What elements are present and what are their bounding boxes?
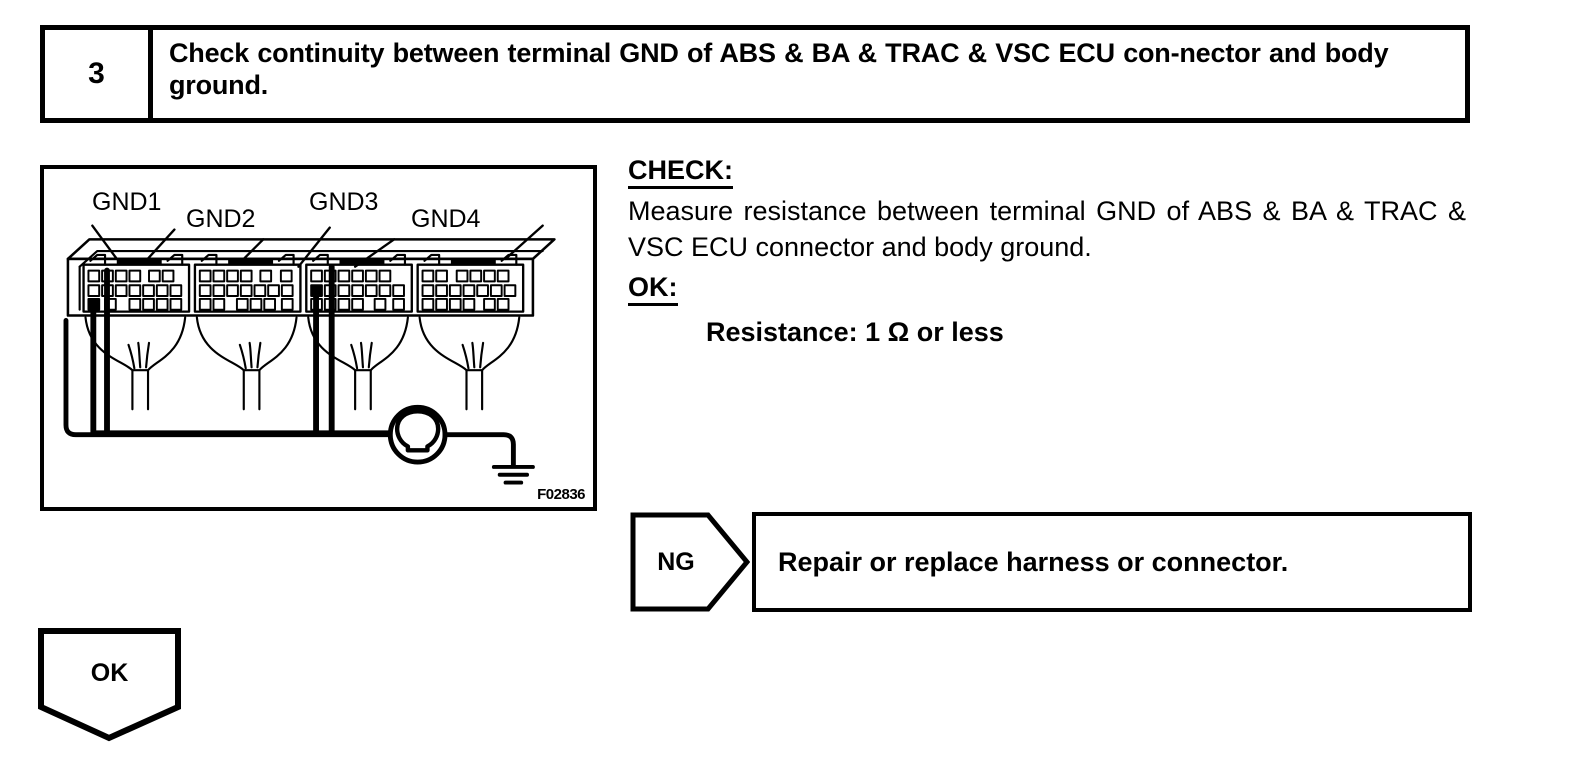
- pin-grid: [88, 271, 515, 310]
- ohmmeter-symbol: [390, 407, 445, 462]
- resistance-spec: Resistance: 1 Ω or less: [706, 316, 1468, 348]
- ng-result-box: Repair or replace harness or connector.: [752, 512, 1472, 612]
- step-number-cell: 3: [45, 30, 153, 118]
- connector-blocks: [84, 255, 524, 312]
- check-instructions-block: CHECK: Measure resistance between termin…: [628, 155, 1468, 349]
- ng-label: NG: [630, 512, 722, 612]
- ground-lead: [445, 435, 513, 466]
- ok-label: OK: [37, 627, 182, 719]
- terminal-label-gnd2: GND2: [186, 207, 255, 232]
- check-body-text: Measure resistance between terminal GND …: [628, 194, 1466, 266]
- terminal-label-gnd1: GND1: [92, 190, 161, 215]
- figure-panel: GND1 GND2 GND3 GND4 F02836: [40, 165, 597, 511]
- check-label: CHECK:: [628, 155, 733, 189]
- wire-harness-bundles: [86, 317, 520, 409]
- terminal-label-gnd4: GND4: [411, 207, 480, 232]
- meter-lead-bus: [66, 320, 390, 434]
- step-header-box: 3 Check continuity between terminal GND …: [40, 25, 1470, 123]
- ok-branch-arrow: OK: [37, 627, 182, 742]
- connector-measurement-diagram: [44, 169, 593, 507]
- step-number: 3: [88, 59, 105, 89]
- terminal-label-gnd3: GND3: [309, 190, 378, 215]
- step-title-cell: Check continuity between terminal GND of…: [153, 30, 1465, 118]
- ok-label: OK:: [628, 272, 678, 306]
- ground-symbol-icon: [494, 467, 533, 483]
- step-title: Check continuity between terminal GND of…: [169, 38, 1453, 101]
- figure-code: F02836: [537, 486, 585, 503]
- ng-branch-arrow: NG: [630, 512, 750, 612]
- ng-action-text: Repair or replace harness or connector.: [778, 546, 1288, 578]
